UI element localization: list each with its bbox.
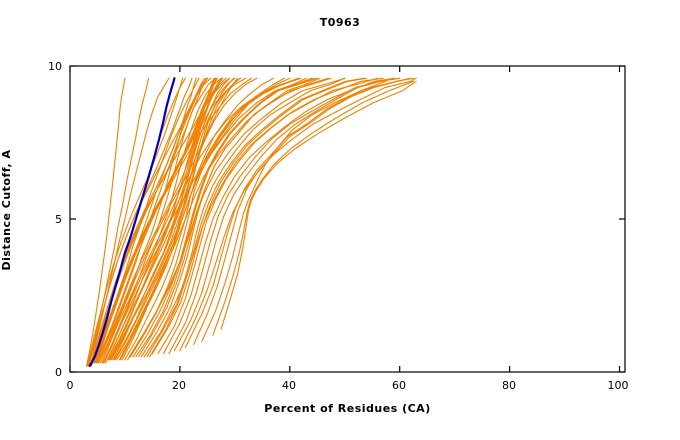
series-model-49 bbox=[121, 78, 312, 360]
chart-container: T0963 Distance Cutoff, A Percent of Resi… bbox=[0, 0, 680, 440]
plot-area bbox=[0, 0, 680, 440]
